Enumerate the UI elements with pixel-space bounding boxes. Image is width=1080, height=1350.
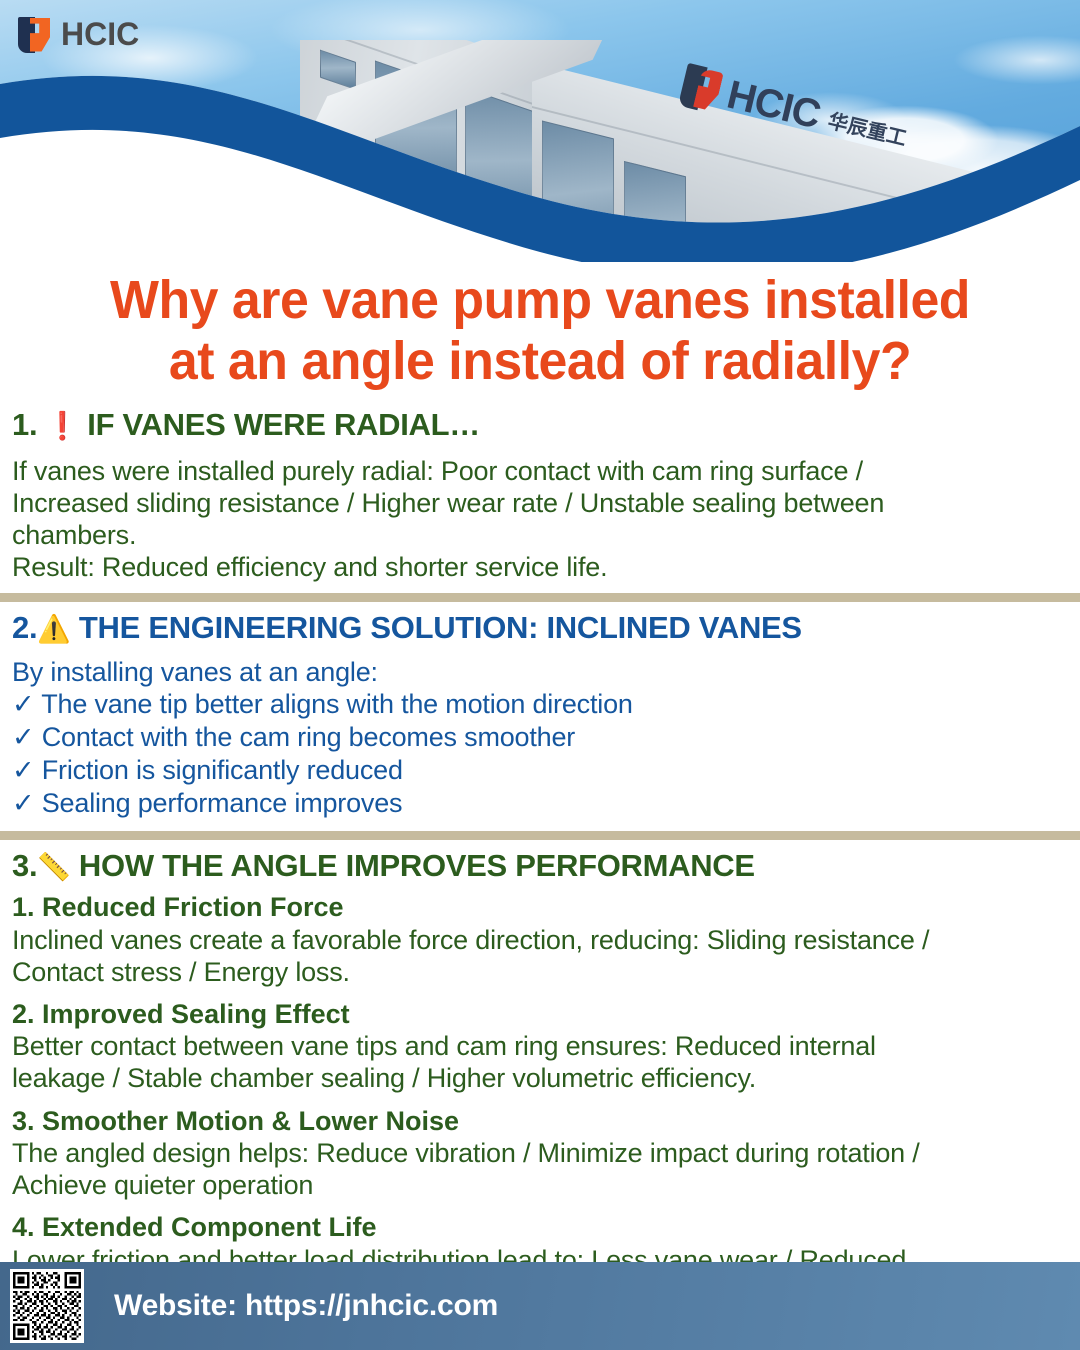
section-3-item-title: 2. Improved Sealing Effect [12,998,1068,1030]
section-2-bullet-text: Friction is significantly reduced [42,755,403,785]
section-1: 1. ❗ IF VANES WERE RADIAL… If vanes were… [0,408,1080,583]
ruler-icon: 📏 [37,852,70,883]
list-item: ✓ The vane tip better aligns with the mo… [12,688,1068,721]
check-icon: ✓ [12,755,34,786]
qr-code[interactable] [10,1269,84,1343]
check-icon: ✓ [12,722,34,753]
section-1-number: 1. [12,407,37,442]
section-2-bullet-text: Contact with the cam ring becomes smooth… [42,722,575,752]
check-icon: ✓ [12,788,34,819]
section-2-bullet-text: Sealing performance improves [42,788,403,818]
section-3: 3.📏 HOW THE ANGLE IMPROVES PERFORMANCE 1… [0,849,1080,1308]
hero-banner: HCIC 华辰重工 HCIC [0,0,1080,262]
section-3-item-line: leakage / Stable chamber sealing / Highe… [12,1062,1068,1094]
factory-building-photo: HCIC 华辰重工 [300,40,1020,262]
hcic-logo-mark-icon [678,62,727,114]
list-item: ✓ Contact with the cam ring becomes smoo… [12,721,1068,754]
list-item: ✓ Friction is significantly reduced [12,754,1068,787]
section-2-intro: By installing vanes at an angle: [12,656,1068,688]
header-logo-text: HCIC [61,16,139,53]
section-2: 2.⚠️ THE ENGINEERING SOLUTION: INCLINED … [0,611,1080,820]
building-window [320,50,356,90]
section-2-body: By installing vanes at an angle: ✓ The v… [12,656,1068,821]
section-2-heading: 2.⚠️ THE ENGINEERING SOLUTION: INCLINED … [12,611,1068,646]
section-3-item-title: 3. Smoother Motion & Lower Noise [12,1105,1068,1137]
check-icon: ✓ [12,689,34,720]
section-2-bullet-text: The vane tip better aligns with the moti… [41,689,632,719]
section-divider-1 [0,593,1080,602]
page-title: Why are vane pump vanes installed at an … [37,270,1043,392]
section-3-item-line: Inclined vanes create a favorable force … [12,924,1068,956]
list-item: ✓ Sealing performance improves [12,787,1068,820]
building-window [742,224,770,262]
section-1-body-line: If vanes were installed purely radial: P… [12,455,1068,487]
section-3-item-line: The angled design helps: Reduce vibratio… [12,1137,1068,1169]
header-logo[interactable]: HCIC [18,16,139,53]
page-title-line-2: at an angle instead of radially? [37,331,1043,392]
section-3-item: 3. Smoother Motion & Lower Noise The ang… [12,1105,1068,1202]
section-1-body-line: chambers. [12,519,1068,551]
section-divider-2 [0,831,1080,840]
section-3-item: 2. Improved Sealing Effect Better contac… [12,998,1068,1095]
warning-triangle-icon: ⚠️ [37,614,70,645]
section-3-item-line: Achieve quieter operation [12,1169,1068,1201]
section-1-heading-text: IF VANES WERE RADIAL… [87,407,480,442]
section-3-item-line: Contact stress / Energy loss. [12,956,1068,988]
section-1-heading: 1. ❗ IF VANES WERE RADIAL… [12,408,1068,443]
section-2-number: 2. [12,610,37,645]
qr-code-image [13,1272,81,1340]
building-window [624,161,686,262]
website-label[interactable]: Website: https://jnhcic.com [114,1289,498,1323]
page-title-line-1: Why are vane pump vanes installed [37,270,1043,331]
section-3-item-title: 4. Extended Component Life [12,1211,1068,1243]
section-3-item-line: Better contact between vane tips and cam… [12,1030,1068,1062]
section-1-body-line: Result: Reduced efficiency and shorter s… [12,551,1068,583]
section-3-heading-text: HOW THE ANGLE IMPROVES PERFORMANCE [79,848,755,883]
section-3-item: 1. Reduced Friction Force Inclined vanes… [12,891,1068,988]
section-3-item-title: 1. Reduced Friction Force [12,891,1068,923]
section-1-body: If vanes were installed purely radial: P… [12,455,1068,584]
section-3-heading: 3.📏 HOW THE ANGLE IMPROVES PERFORMANCE [12,849,1068,884]
footer-bar: Website: https://jnhcic.com [0,1262,1080,1350]
section-1-body-line: Increased sliding resistance / Higher we… [12,487,1068,519]
red-exclamation-icon: ❗ [46,411,79,442]
hcic-logo-mark-icon [18,17,52,53]
section-2-heading-text: THE ENGINEERING SOLUTION: INCLINED VANES [79,610,802,645]
building-window [542,120,614,262]
section-3-number: 3. [12,848,37,883]
